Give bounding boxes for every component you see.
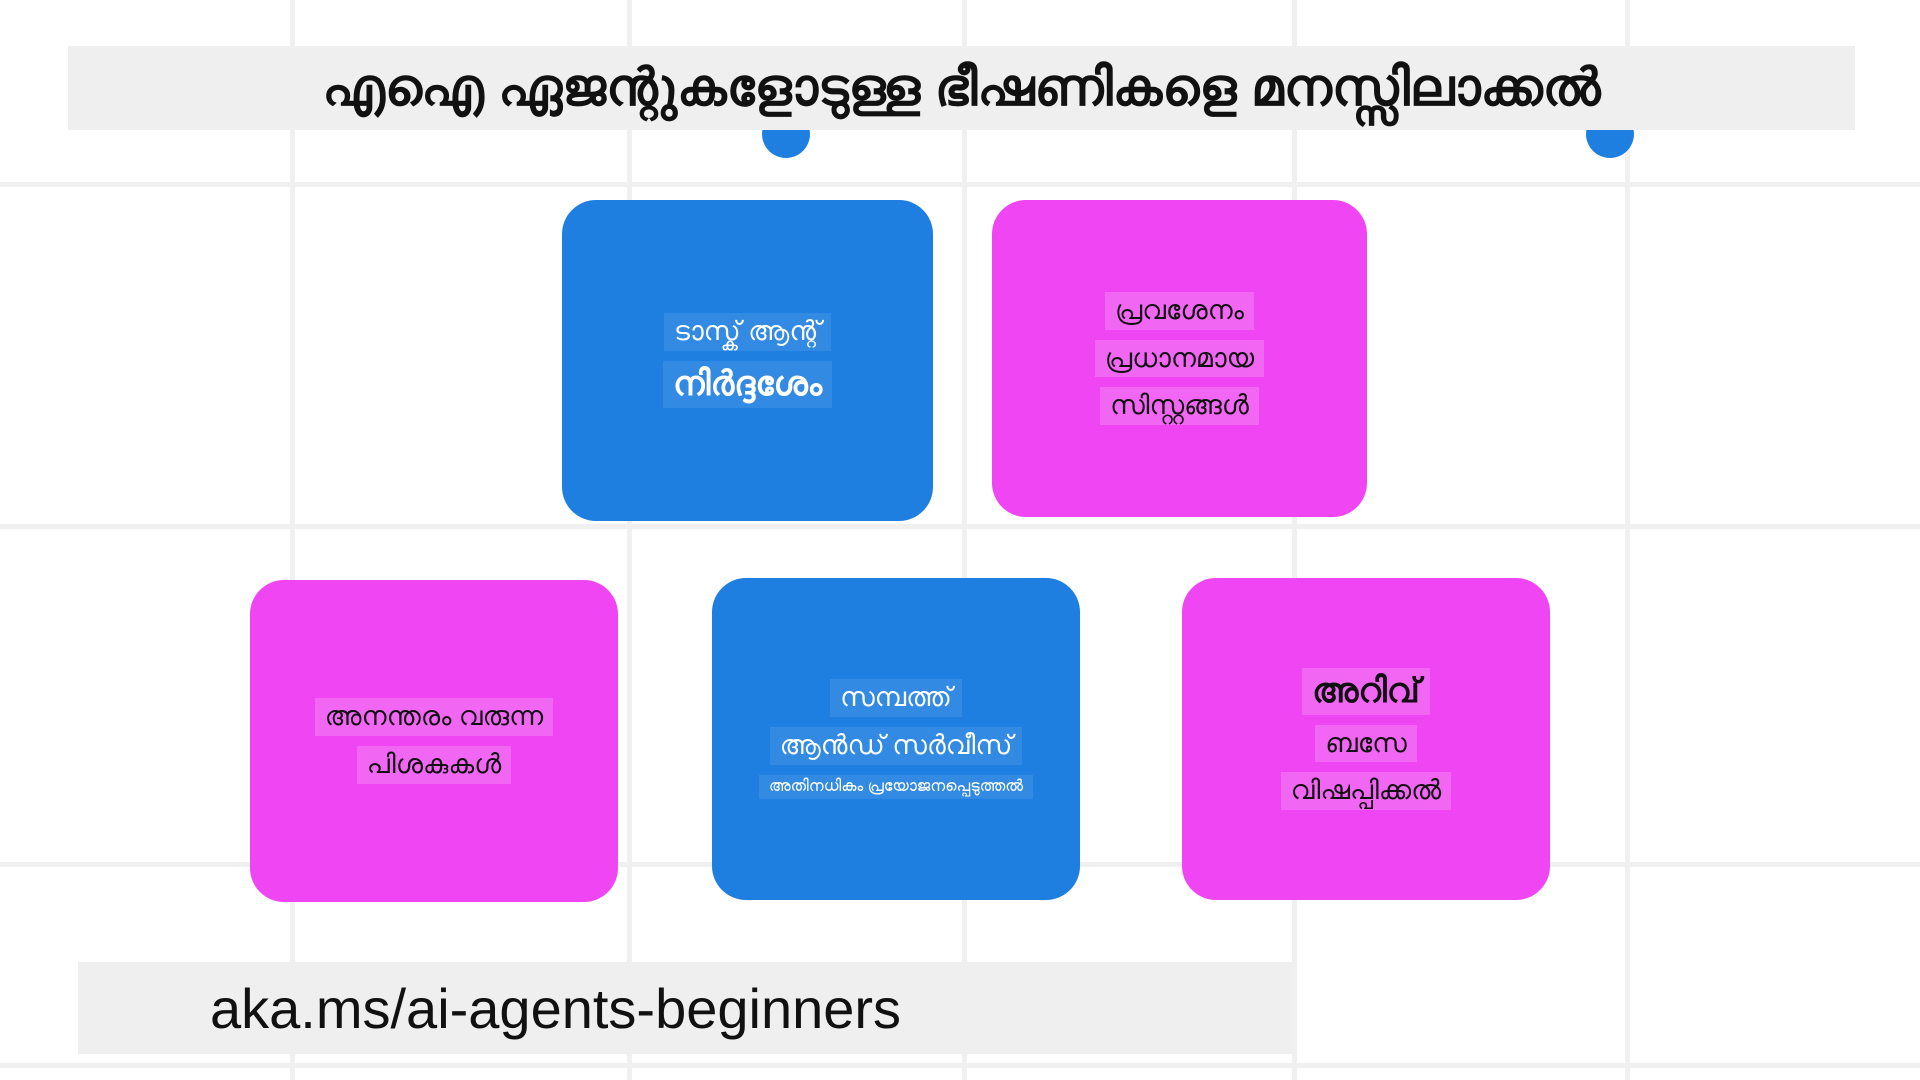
card-knowledge-base-poisoning[interactable]: അറിവ് ബസേ വിഷപ്പിക്കൽ — [1182, 578, 1550, 900]
card-line: പ്രവശേനം — [1105, 292, 1254, 330]
grid-line-vertical — [962, 0, 967, 1080]
page-title: എഐ ഏജന്റുകളോടുള്ള ഭീഷണികളെ മനസ്സിലാക്കൽ — [322, 61, 1600, 116]
card-line: സിസ്റ്റങ്ങൾ — [1100, 387, 1259, 425]
grid-line-horizontal — [0, 182, 1920, 187]
card-line: ടാസ്ക് ആന്റ് — [664, 313, 831, 351]
title-banner: എഐ ഏജന്റുകളോടുള്ള ഭീഷണികളെ മനസ്സിലാക്കൽ — [68, 46, 1855, 130]
card-line: പ്രധാനമായ — [1095, 340, 1264, 378]
card-resource-and-service-overuse[interactable]: സമ്പത്ത് ആൻഡ് സർവീസ് അതിനധികം പ്രയോജനപ്പ… — [712, 578, 1080, 900]
card-line: അറിവ് — [1302, 668, 1430, 715]
card-line: പിശകുകൾ — [357, 746, 511, 784]
card-line: വിഷപ്പിക്കൽ — [1281, 772, 1451, 810]
card-line: അതിനധികം പ്രയോജനപ്പെടുത്തൽ — [759, 775, 1033, 799]
grid-line-vertical — [1625, 0, 1630, 1080]
card-line: ആൻഡ് സർവീസ് — [770, 727, 1023, 765]
grid-line-vertical — [290, 0, 295, 1080]
footer-url[interactable]: aka.ms/ai-agents-beginners — [210, 976, 901, 1041]
card-subsequent-errors[interactable]: അനന്തരം വരുന്ന പിശകുകൾ — [250, 580, 618, 902]
card-line: അനന്തരം വരുന്ന — [315, 698, 553, 736]
card-task-and-instruction[interactable]: ടാസ്ക് ആന്റ് നിർദ്ദശേം — [562, 200, 933, 521]
grid-line-horizontal — [0, 1063, 1920, 1068]
grid-line-vertical — [627, 0, 632, 1080]
card-line: സമ്പത്ത് — [830, 679, 962, 717]
grid-line-horizontal — [0, 524, 1920, 529]
slide-canvas: എഐ ഏജന്റുകളോടുള്ള ഭീഷണികളെ മനസ്സിലാക്കൽ … — [0, 0, 1920, 1080]
card-line: നിർദ്ദശേം — [663, 361, 832, 408]
footer-banner: aka.ms/ai-agents-beginners — [78, 962, 1293, 1054]
card-access-to-critical-systems[interactable]: പ്രവശേനം പ്രധാനമായ സിസ്റ്റങ്ങൾ — [992, 200, 1367, 517]
card-line: ബസേ — [1315, 725, 1417, 763]
grid-line-vertical — [1292, 0, 1297, 1080]
